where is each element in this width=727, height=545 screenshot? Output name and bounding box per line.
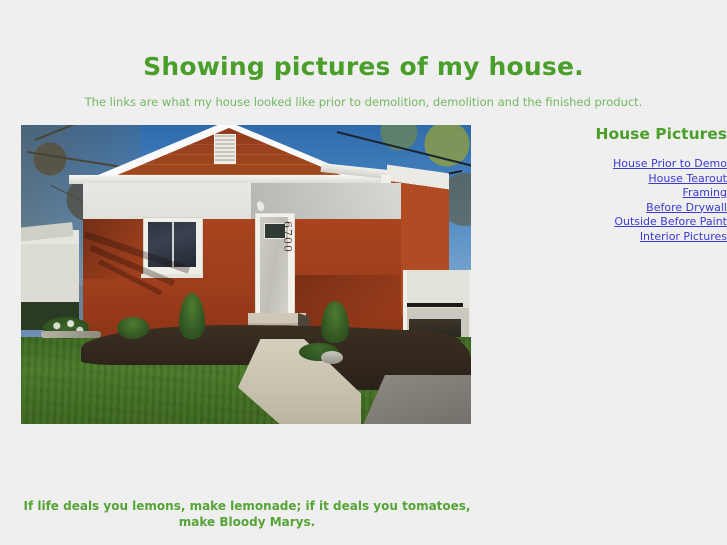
house-photo-canvas: 6700 (21, 125, 471, 424)
sidebar-link-house-tearout[interactable]: House Tearout (648, 172, 727, 185)
sidebar-link-interior-pictures[interactable]: Interior Pictures (640, 230, 727, 243)
list-item: House Tearout (581, 171, 727, 186)
list-item: Framing (581, 185, 727, 200)
list-item: House Prior to Demo (581, 156, 727, 171)
shrub (117, 317, 149, 339)
sidebar-heading: House Pictures (581, 124, 727, 144)
sidebar-link-list: House Prior to Demo House Tearout Framin… (581, 156, 727, 244)
sidebar-link-framing[interactable]: Framing (682, 186, 727, 199)
list-item: Before Drywall (581, 200, 727, 215)
gable-vent (214, 134, 236, 164)
bed-edging (41, 331, 101, 338)
sidebar-link-house-prior-to-demo[interactable]: House Prior to Demo (613, 157, 727, 170)
house-number: 6700 (281, 221, 294, 253)
house-photo: 6700 (21, 125, 471, 424)
sidebar-link-outside-before-paint[interactable]: Outside Before Paint (614, 215, 727, 228)
list-item: Interior Pictures (581, 229, 727, 244)
page-title: Showing pictures of my house. (0, 53, 727, 81)
page-root: Showing pictures of my house. The links … (0, 0, 727, 545)
sidebar: House Pictures House Prior to Demo House… (581, 124, 727, 244)
landscape-stone (321, 351, 343, 364)
page-subtitle: The links are what my house looked like … (0, 95, 727, 109)
utility-rail (407, 303, 463, 307)
list-item: Outside Before Paint (581, 214, 727, 229)
neighbor-house (21, 230, 79, 330)
sidebar-link-before-drywall[interactable]: Before Drywall (646, 201, 727, 214)
footer-quote: If life deals you lemons, make lemonade;… (10, 498, 484, 530)
